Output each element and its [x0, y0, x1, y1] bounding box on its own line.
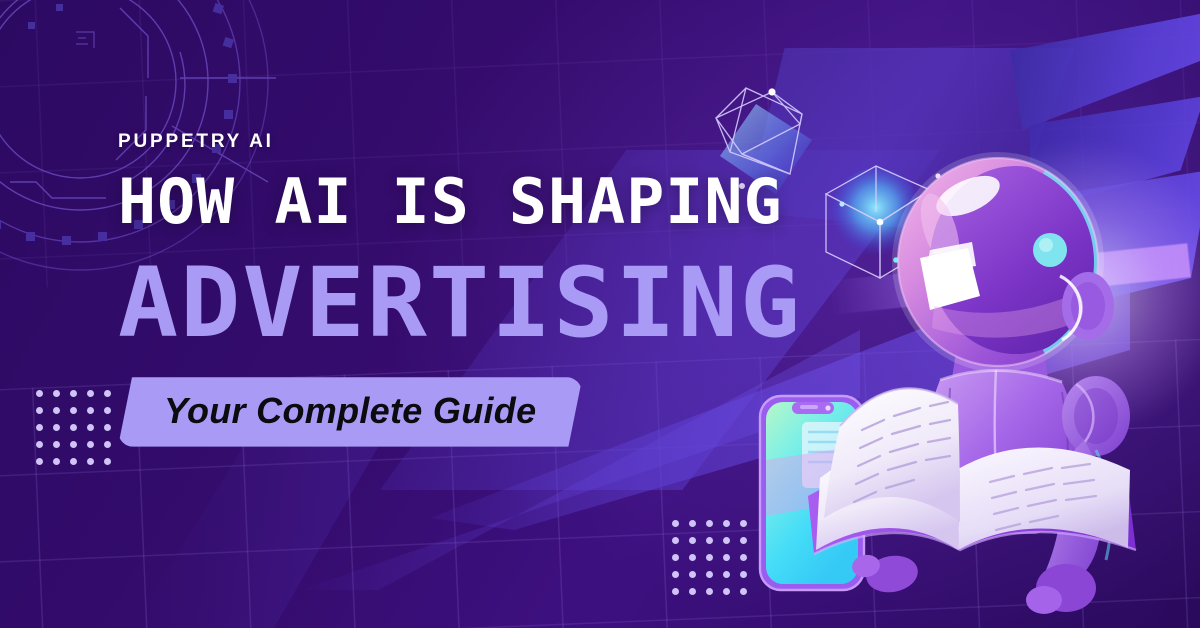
grid-dot	[70, 390, 77, 397]
grid-dot	[689, 520, 696, 527]
grid-dot	[706, 520, 713, 527]
grid-dot	[87, 390, 94, 397]
grid-dot	[53, 407, 60, 414]
grid-dot	[104, 441, 111, 448]
background-ribbon-b	[1010, 10, 1200, 130]
banner-root: PUPPETRY AI HOW AI IS SHAPING ADVERTISIN…	[0, 0, 1200, 628]
background-wedge-d	[130, 440, 550, 628]
grid-dot	[104, 424, 111, 431]
grid-dot	[53, 424, 60, 431]
grid-dot	[36, 441, 43, 448]
grid-dot	[723, 554, 730, 561]
grid-dot	[87, 441, 94, 448]
grid-dot	[104, 407, 111, 414]
page-title-accent: ADVERTISING	[118, 255, 992, 351]
grid-dot	[36, 390, 43, 397]
grid-dot	[672, 588, 679, 595]
grid-dot	[689, 571, 696, 578]
dot-grid-left	[36, 390, 116, 470]
grid-dot	[104, 458, 111, 465]
headline-block: PUPPETRY AI HOW AI IS SHAPING ADVERTISIN…	[118, 132, 958, 447]
grid-dot	[53, 458, 60, 465]
grid-dot	[706, 554, 713, 561]
grid-dot	[70, 458, 77, 465]
grid-dot	[723, 588, 730, 595]
brand-kicker: PUPPETRY AI	[118, 132, 958, 151]
grid-dot	[689, 554, 696, 561]
grid-dot	[723, 520, 730, 527]
grid-dot	[723, 571, 730, 578]
grid-dot	[672, 571, 679, 578]
grid-dot	[36, 424, 43, 431]
grid-dot	[723, 537, 730, 544]
grid-dot	[672, 554, 679, 561]
grid-dot	[672, 520, 679, 527]
subtitle-pill-wrap: Your Complete Guide	[118, 377, 958, 446]
grid-dot	[36, 458, 43, 465]
grid-dot	[53, 441, 60, 448]
grid-dot	[672, 537, 679, 544]
grid-dot	[70, 441, 77, 448]
dot-grid-middle	[672, 520, 752, 600]
grid-dot	[706, 588, 713, 595]
subtitle-pill: Your Complete Guide	[118, 377, 582, 446]
grid-dot	[87, 458, 94, 465]
grid-dot	[87, 424, 94, 431]
grid-dot	[87, 407, 94, 414]
grid-dot	[53, 390, 60, 397]
grid-dot	[36, 407, 43, 414]
grid-dot	[689, 588, 696, 595]
grid-dot	[70, 424, 77, 431]
grid-dot	[706, 571, 713, 578]
grid-dot	[70, 407, 77, 414]
grid-dot	[706, 537, 713, 544]
grid-dot	[104, 390, 111, 397]
page-title: HOW AI IS SHAPING	[118, 170, 975, 233]
grid-dot	[689, 537, 696, 544]
